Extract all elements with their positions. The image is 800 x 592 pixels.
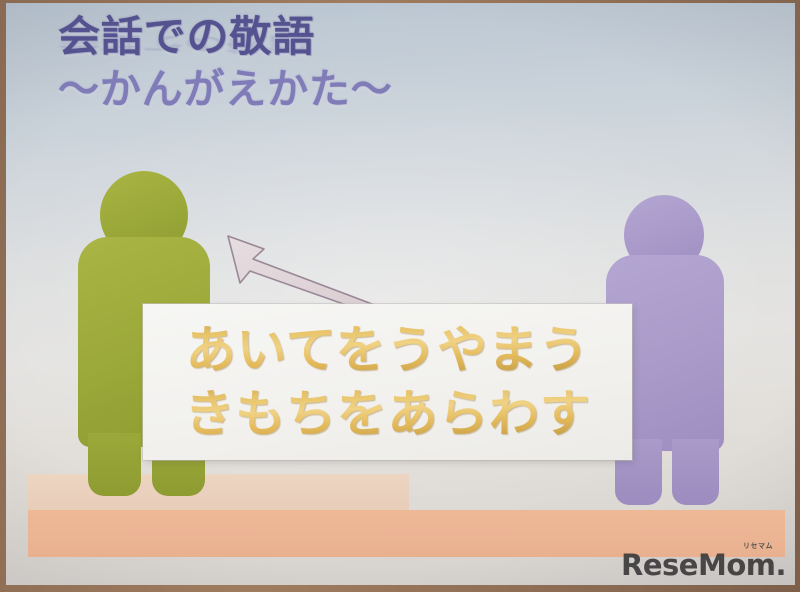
title-line-primary: 会話での敬語 bbox=[58, 15, 393, 58]
person-leg-left-icon bbox=[88, 433, 141, 496]
person-leg-right-icon bbox=[672, 439, 719, 505]
title-line-secondary: 〜かんがえかた〜 bbox=[58, 68, 393, 110]
slide-screenshot: 会話での敬語 会話での敬語 〜かんがえかた〜 bbox=[0, 0, 800, 592]
resemom-watermark: リセマム ReseMom. bbox=[621, 543, 786, 580]
slide-title: 会話での敬語 〜かんがえかた〜 bbox=[58, 15, 393, 110]
message-line-1: あいてをうやまう bbox=[186, 318, 590, 382]
watermark-wordmark: ReseMom. bbox=[621, 551, 786, 580]
presentation-slide: 会話での敬語 会話での敬語 〜かんがえかた〜 bbox=[6, 3, 795, 585]
message-box: あいてをうやまう きもちをあらわす bbox=[143, 304, 632, 460]
message-line-2: きもちをあらわす bbox=[185, 382, 591, 446]
